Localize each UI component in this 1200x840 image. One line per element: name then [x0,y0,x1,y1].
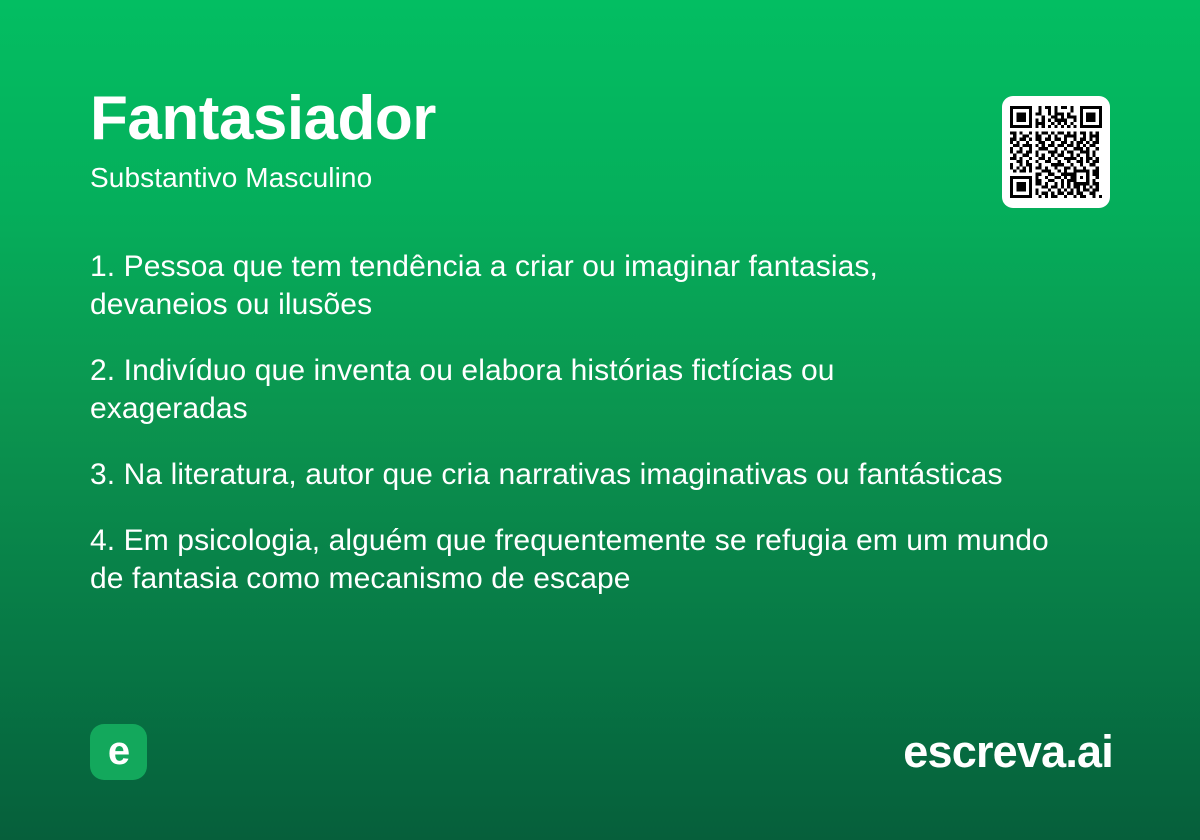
brand-name: escreva.ai [903,725,1113,779]
qr-code-icon [1010,106,1102,198]
qr-code-card[interactable] [1002,96,1110,208]
dictionary-card: Fantasiador Substantivo Masculino [0,0,1200,840]
definitions-list: 1. Pessoa que tem tendência a criar ou i… [90,248,1110,598]
escreva-logo-icon[interactable]: e [90,724,147,780]
logo-letter: e [90,724,147,780]
definition-item: 3. Na literatura, autor que cria narrati… [90,456,1015,494]
definition-item: 1. Pessoa que tem tendência a criar ou i… [90,248,1005,324]
word-title: Fantasiador [90,88,1110,150]
card-footer: e escreva.ai [90,724,1113,780]
word-class-label: Substantivo Masculino [90,163,1110,194]
definition-item: 4. Em psicologia, alguém que frequenteme… [90,522,1090,598]
definition-item: 2. Indivíduo que inventa ou elabora hist… [90,352,970,428]
card-header: Fantasiador Substantivo Masculino [90,88,1110,194]
